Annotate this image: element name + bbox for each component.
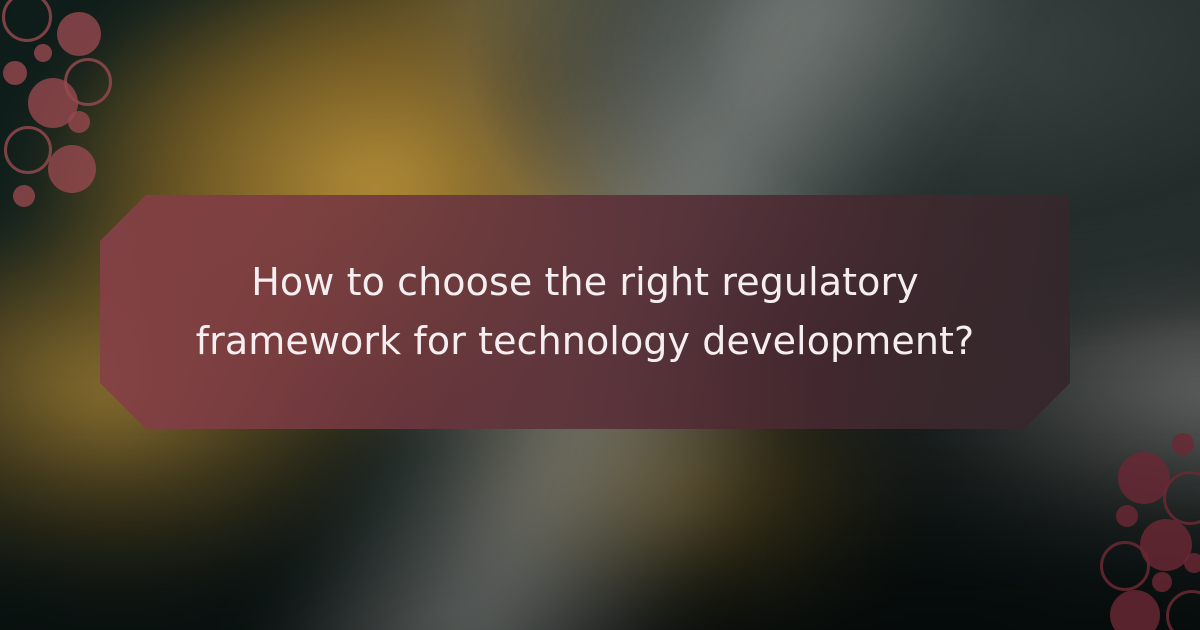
decorative-dot — [1110, 590, 1160, 630]
decorative-ring — [4, 126, 52, 174]
social-share-card: How to choose the right regulatory frame… — [0, 0, 1200, 630]
decorative-circles-bottom-right — [1080, 430, 1200, 630]
decorative-dot — [1172, 433, 1194, 455]
decorative-dot — [68, 111, 90, 133]
decorative-dot — [28, 78, 78, 128]
decorative-dot — [34, 44, 52, 62]
decorative-dot — [13, 185, 35, 207]
decorative-dot — [3, 61, 27, 85]
decorative-dot — [1140, 519, 1192, 571]
decorative-ring — [2, 0, 52, 42]
decorative-dot — [1184, 553, 1200, 573]
decorative-dot — [1116, 505, 1138, 527]
decorative-ring — [1166, 590, 1200, 630]
decorative-ring — [1163, 471, 1200, 525]
decorative-dot — [57, 12, 101, 56]
decorative-dot — [1152, 572, 1172, 592]
decorative-ring — [64, 58, 112, 106]
headline-text: How to choose the right regulatory frame… — [100, 253, 1070, 372]
decorative-dot — [1118, 452, 1170, 504]
decorative-ring — [1100, 541, 1150, 591]
decorative-dot — [48, 145, 96, 193]
headline-banner: How to choose the right regulatory frame… — [100, 195, 1070, 429]
